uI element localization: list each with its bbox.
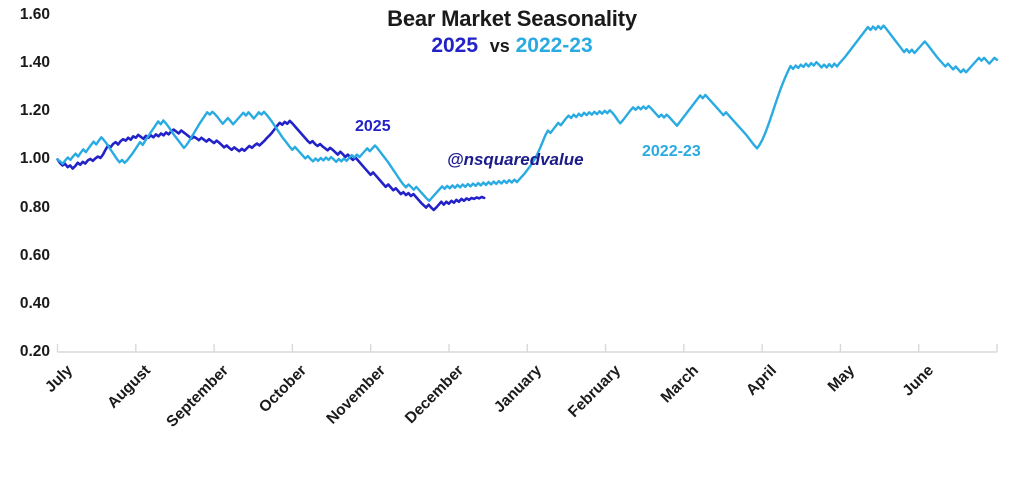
y-tick-1.00: 1.00 (0, 150, 50, 168)
y-tick-0.80: 0.80 (0, 199, 50, 217)
plot-area (0, 0, 1024, 448)
y-tick-1.60: 1.60 (0, 6, 50, 24)
chart-container: Bear Market Seasonality 2025 vs 2022-23 … (0, 0, 1024, 448)
annotation-2025: 2025 (355, 118, 391, 136)
series-lines (58, 26, 998, 210)
y-tick-1.40: 1.40 (0, 54, 50, 72)
watermark-handle: @nsquaredvalue (447, 150, 584, 170)
y-tick-0.40: 0.40 (0, 295, 50, 313)
y-tick-0.60: 0.60 (0, 247, 50, 265)
y-tick-1.20: 1.20 (0, 102, 50, 120)
axis-lines (58, 344, 998, 352)
annotation-2022-23: 2022-23 (642, 143, 701, 161)
y-tick-0.20: 0.20 (0, 343, 50, 361)
